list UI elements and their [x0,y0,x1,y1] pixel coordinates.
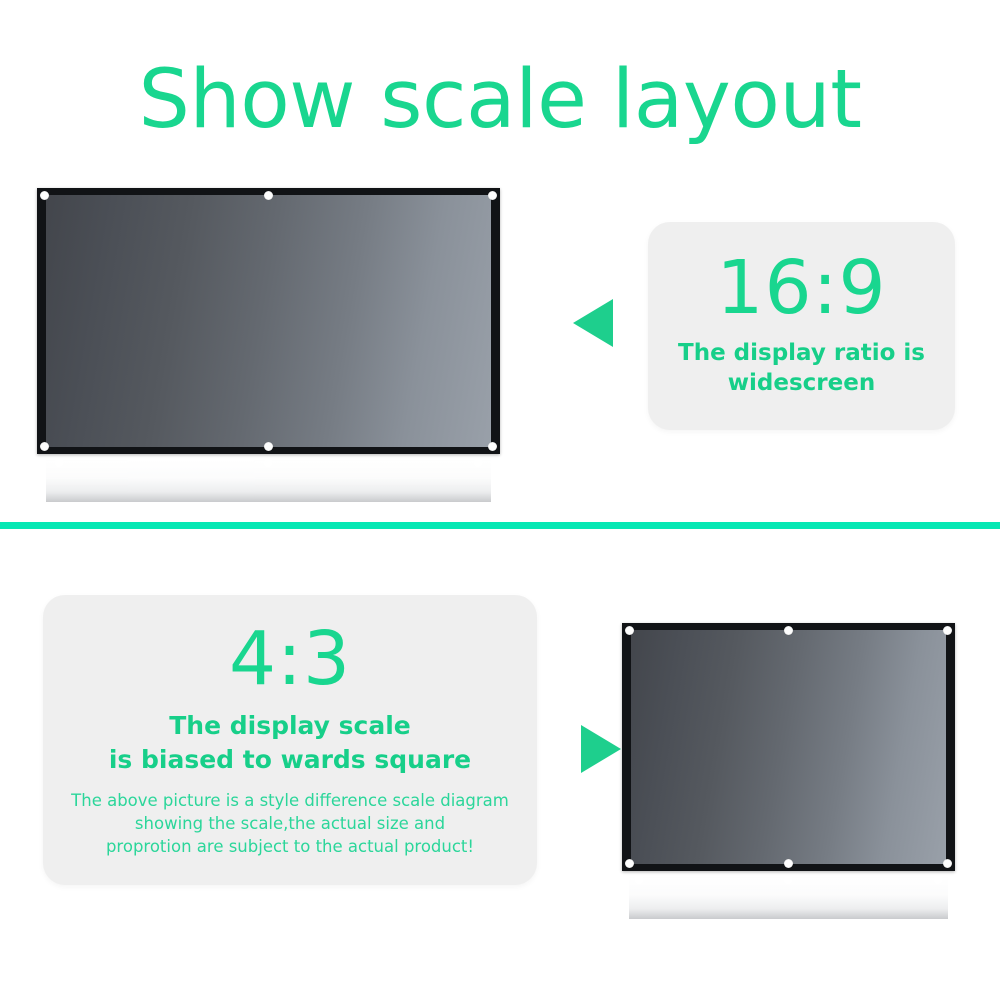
section-16-9: 16:9 The display ratio is widescreen [0,150,1000,520]
grommet-icon [488,191,497,200]
triangle-right-icon [581,725,621,773]
disclaimer-note: The above picture is a style difference … [43,789,537,858]
reflection-grommet-icon [264,459,272,467]
reflection-grommet-icon [934,876,942,884]
disclaimer-line-3: proprotion are subject to the actual pro… [55,835,525,858]
projector-screen-4-3 [622,623,955,871]
info-card-4-3: 4:3 The display scale is biased to wards… [43,595,537,885]
screen-reflection [629,873,949,919]
grommet-icon [264,191,273,200]
grommet-icon [40,191,49,200]
grommet-icon [784,859,793,868]
reflection-grommet-icon [55,459,63,467]
ratio-description-4-3: The display scale is biased to wards squ… [43,709,537,777]
ratio-description-line-2: is biased to wards square [59,743,521,777]
projector-screen-16-9 [37,188,500,454]
disclaimer-line-2: showing the scale,the actual size and [55,812,525,835]
ratio-description-16-9: The display ratio is widescreen [648,338,955,398]
screen-reflection [46,456,490,502]
section-4-3: 4:3 The display scale is biased to wards… [0,560,1000,960]
reflection-grommet-icon [635,876,643,884]
grommet-icon [625,859,634,868]
page-root: Show scale layout 16:9 The disp [0,0,1000,1000]
grommet-icon [943,859,952,868]
screen-frame [37,188,500,454]
reflection-grommet-icon [474,459,482,467]
page-title: Show scale layout [0,52,1000,148]
disclaimer-line-1: The above picture is a style difference … [55,789,525,812]
ratio-description-line-1: The display scale [59,709,521,743]
grommet-icon [488,442,497,451]
screen-frame [622,623,955,871]
screen-surface [631,630,946,864]
ratio-description-line-1: The display ratio is [662,338,941,368]
info-card-16-9: 16:9 The display ratio is widescreen [648,222,955,430]
ratio-description-line-2: widescreen [662,368,941,398]
screen-surface [46,195,491,447]
grommet-icon [264,442,273,451]
ratio-value-16-9: 16:9 [648,248,955,328]
reflection-grommet-icon [784,876,792,884]
ratio-value-4-3: 4:3 [43,619,537,699]
grommet-icon [40,442,49,451]
section-divider [0,522,1000,529]
grommet-icon [943,626,952,635]
triangle-left-icon [573,299,613,347]
grommet-icon [625,626,634,635]
grommet-icon [784,626,793,635]
